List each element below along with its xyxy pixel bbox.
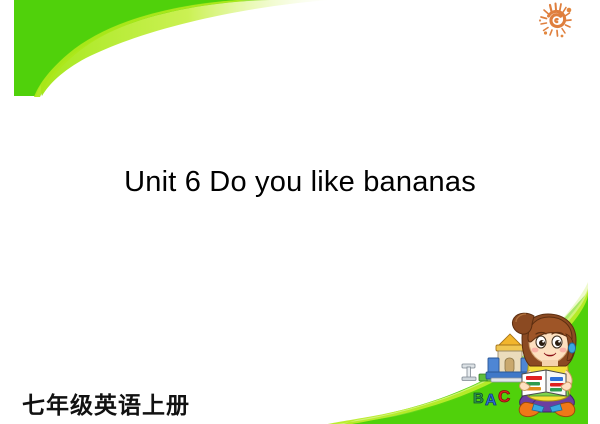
sun-icon xyxy=(536,2,578,42)
letter-b: B xyxy=(473,390,484,407)
top-swoosh-edge xyxy=(14,0,330,96)
top-swoosh-lightline xyxy=(34,0,246,97)
letter-c: C xyxy=(498,387,510,406)
subtitle-grade-label: 七年级英语上册 xyxy=(22,390,190,420)
top-swoosh-body xyxy=(14,0,270,96)
girl-reading-with-blocks-illustration: B A C xyxy=(448,312,598,424)
top-swoosh-fill xyxy=(14,0,240,96)
slide-canvas: Unit 6 Do you like bananas 七年级英语上册 xyxy=(0,0,600,424)
letter-a: A xyxy=(485,392,497,409)
page-title: Unit 6 Do you like bananas xyxy=(0,162,600,202)
top-swoosh-body-2 xyxy=(14,0,150,95)
abc-letter-blocks: B A C xyxy=(473,387,510,409)
open-book xyxy=(522,370,566,396)
grey-toy-block xyxy=(462,364,476,381)
